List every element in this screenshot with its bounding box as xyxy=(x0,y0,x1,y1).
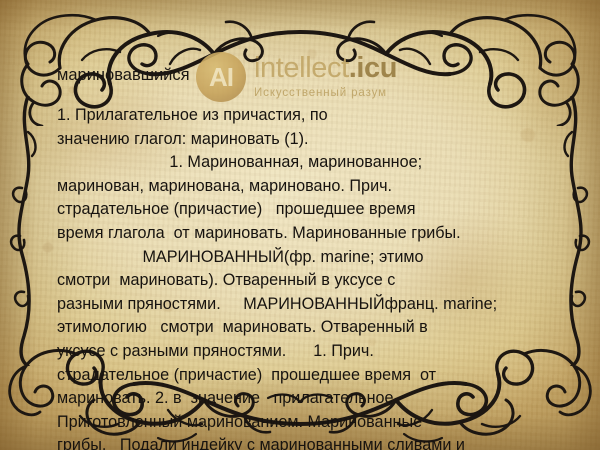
text-line: значению глагол: мариновать (1). xyxy=(57,128,585,152)
text-line: смотри мариновать). Отваренный в уксусе … xyxy=(57,269,585,293)
text-line: Приготовленный маринованием. Маринованны… xyxy=(57,411,585,435)
text-line: МАРИНОВАННЫЙ(фр. marine; этимо xyxy=(57,246,585,270)
text-line: уксусе с разными пряностями. 1. Прич. xyxy=(57,340,585,364)
text-line: время глагола от мариновать. Маринованны… xyxy=(57,222,585,246)
text-line: разными пряностями. МАРИНОВАННЫЙфранц. m… xyxy=(57,293,585,317)
text-line: этимологию смотри мариновать. Отваренный… xyxy=(57,316,585,340)
dictionary-entry-text: 1. Прилагательное из причастия, по значе… xyxy=(57,104,585,450)
page-title: мариновавшийся xyxy=(57,66,190,85)
slide-canvas: AI intellect.icu Искусственный разум мар… xyxy=(0,0,600,450)
text-line: грибы. Подали индейку с маринованными сл… xyxy=(57,434,585,450)
text-line: мариновать. 2. в значение прилагательное xyxy=(57,387,585,411)
text-line: 1. Маринованная, маринованное; xyxy=(57,151,585,175)
text-line: страдательное (причастие) прошедшее врем… xyxy=(57,198,585,222)
text-line: маринован, маринована, мариновано. Прич. xyxy=(57,175,585,199)
text-line: страдательное (причастие) прошедшее врем… xyxy=(57,364,585,388)
text-line: 1. Прилагательное из причастия, по xyxy=(57,104,585,128)
